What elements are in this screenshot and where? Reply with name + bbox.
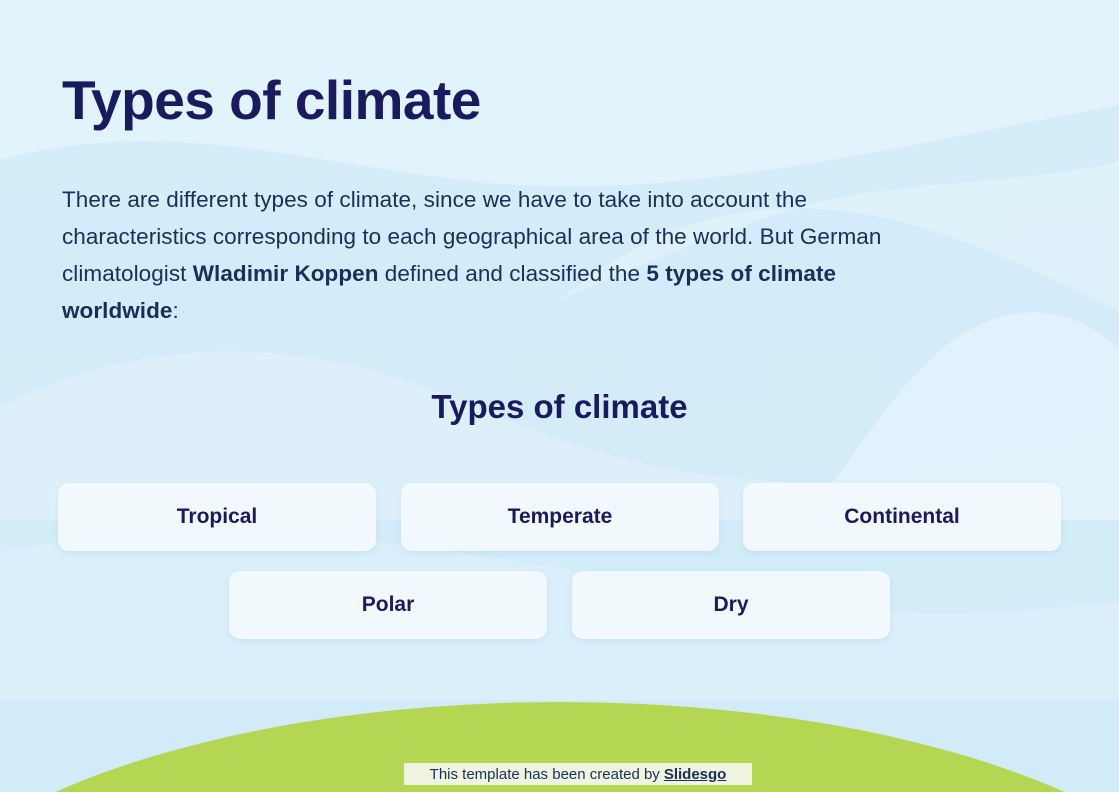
climate-chip-tropical[interactable]: Tropical: [58, 483, 376, 551]
slidesgo-link[interactable]: Slidesgo: [664, 766, 727, 783]
paragraph-text-part-2: defined and classified the: [379, 261, 647, 286]
chip-label: Tropical: [177, 505, 258, 529]
chip-label: Polar: [362, 593, 415, 617]
footer-text: This template has been created by: [430, 766, 660, 783]
paragraph-text-part-3: :: [172, 298, 178, 323]
climate-chip-temperate[interactable]: Temperate: [401, 483, 719, 551]
slide-canvas: Types of climate There are different typ…: [0, 0, 1119, 792]
climate-chip-continental[interactable]: Continental: [743, 483, 1061, 551]
chip-label: Continental: [844, 505, 960, 529]
page-title: Types of climate: [62, 70, 481, 131]
chip-label: Dry: [713, 593, 748, 617]
paragraph-bold-koppen: Wladimir Koppen: [193, 261, 379, 286]
climate-chip-polar[interactable]: Polar: [229, 571, 547, 639]
climate-chip-dry[interactable]: Dry: [572, 571, 890, 639]
chip-label: Temperate: [508, 505, 613, 529]
footer-attribution: This template has been created by Slides…: [404, 763, 752, 785]
body-paragraph: There are different types of climate, si…: [62, 181, 932, 329]
section-subtitle: Types of climate: [0, 388, 1119, 426]
